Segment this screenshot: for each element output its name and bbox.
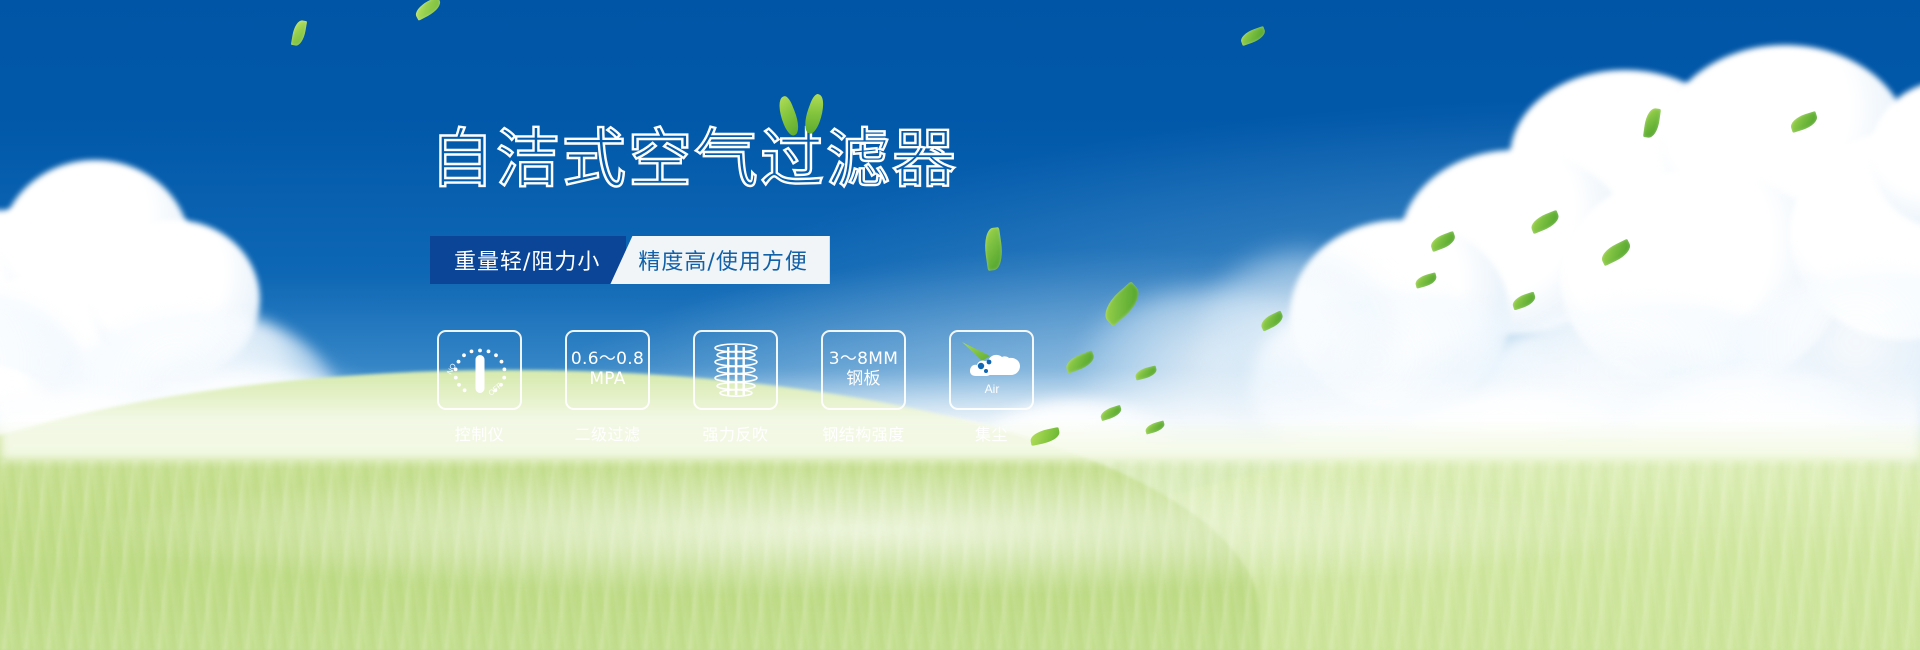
air-caption: Air bbox=[984, 382, 999, 396]
subtitle-bar: 重量轻/阻力小 精度高/使用方便 bbox=[430, 236, 830, 284]
product-banner: 自洁式空气过滤器 重量轻/阻力小 精度高/使用方便 bbox=[0, 0, 1920, 650]
subtitle-right: 精度高/使用方便 bbox=[610, 236, 829, 284]
steel-plate-text-icon: 3～8MM 钢板 bbox=[821, 330, 906, 410]
feature-label: 强力反吹 bbox=[702, 421, 768, 445]
sprout-leaf-left bbox=[774, 95, 803, 138]
sprout-leaves-icon bbox=[775, 92, 831, 138]
feature-label: 集尘 bbox=[975, 421, 1008, 445]
title-block: 自洁式空气过滤器 bbox=[430, 128, 958, 192]
feature-item-pressure[interactable]: 0.6～0.8 MPA 二级过滤 bbox=[565, 330, 650, 445]
page-title: 自洁式空气过滤器 bbox=[430, 128, 958, 192]
steel-value-line2: 钢板 bbox=[846, 370, 881, 390]
steel-value-line1: 3～8MM bbox=[829, 350, 898, 370]
feature-item-dust[interactable]: Air 集尘 bbox=[949, 330, 1034, 445]
feature-item-steel[interactable]: 3～8MM 钢板 钢结构强度 bbox=[821, 330, 906, 445]
pressure-value-line1: 0.6～0.8 bbox=[571, 350, 644, 370]
air-cloud-icon: Air bbox=[949, 330, 1034, 410]
feature-list: NO OFF 控制仪 0.6～0.8 MPA 二级过滤 bbox=[437, 330, 1034, 445]
subtitle-left: 重量轻/阻力小 bbox=[430, 236, 626, 284]
sprout-leaf-right bbox=[801, 93, 829, 136]
feature-item-control[interactable]: NO OFF 控制仪 bbox=[437, 330, 522, 445]
filter-stack-icon bbox=[693, 330, 778, 410]
feature-label: 控制仪 bbox=[455, 421, 505, 445]
decor-leaf-icon bbox=[1030, 430, 1060, 443]
feature-label: 钢结构强度 bbox=[822, 421, 905, 445]
feature-item-backblow[interactable]: 强力反吹 bbox=[693, 330, 778, 445]
feature-label: 二级过滤 bbox=[574, 421, 640, 445]
banner-content: 自洁式空气过滤器 重量轻/阻力小 精度高/使用方便 bbox=[0, 0, 1920, 650]
control-dial-icon: NO OFF bbox=[437, 330, 522, 410]
svg-text:NO: NO bbox=[445, 362, 458, 376]
pressure-value-line2: MPA bbox=[589, 370, 625, 390]
pressure-text-icon: 0.6～0.8 MPA bbox=[565, 330, 650, 410]
